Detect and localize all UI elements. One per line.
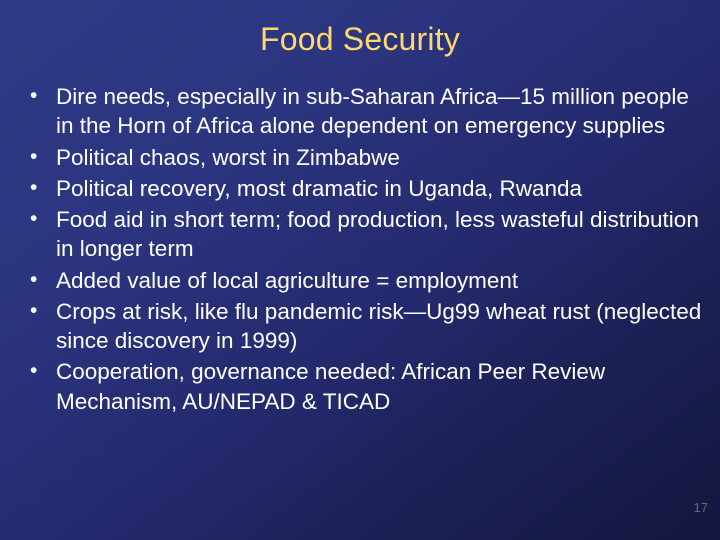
bullet-marker-icon: • — [30, 174, 56, 201]
list-item-text: Food aid in short term; food production,… — [56, 205, 702, 264]
list-item: • Added value of local agriculture = emp… — [30, 266, 702, 295]
presentation-slide: Food Security • Dire needs, especially i… — [0, 0, 720, 540]
bullet-marker-icon: • — [30, 143, 56, 170]
list-item-text: Dire needs, especially in sub-Saharan Af… — [56, 82, 702, 141]
list-item: • Crops at risk, like flu pandemic risk—… — [30, 297, 702, 356]
bullet-marker-icon: • — [30, 266, 56, 293]
list-item: • Dire needs, especially in sub-Saharan … — [30, 82, 702, 141]
list-item-text: Cooperation, governance needed: African … — [56, 357, 702, 416]
page-number: 17 — [694, 501, 708, 514]
list-item: • Political recovery, most dramatic in U… — [30, 174, 702, 203]
list-item: • Cooperation, governance needed: Africa… — [30, 357, 702, 416]
list-item-text: Added value of local agriculture = emplo… — [56, 266, 702, 295]
list-item: • Food aid in short term; food productio… — [30, 205, 702, 264]
list-item-text: Political recovery, most dramatic in Uga… — [56, 174, 702, 203]
list-item-text: Crops at risk, like flu pandemic risk—Ug… — [56, 297, 702, 356]
bullet-marker-icon: • — [30, 297, 56, 324]
bullet-marker-icon: • — [30, 82, 56, 109]
bullet-marker-icon: • — [30, 205, 56, 232]
list-item: • Political chaos, worst in Zimbabwe — [30, 143, 702, 172]
list-item-text: Political chaos, worst in Zimbabwe — [56, 143, 702, 172]
page-title: Food Security — [0, 22, 720, 57]
bullet-marker-icon: • — [30, 357, 56, 384]
bullet-list: • Dire needs, especially in sub-Saharan … — [30, 82, 702, 418]
